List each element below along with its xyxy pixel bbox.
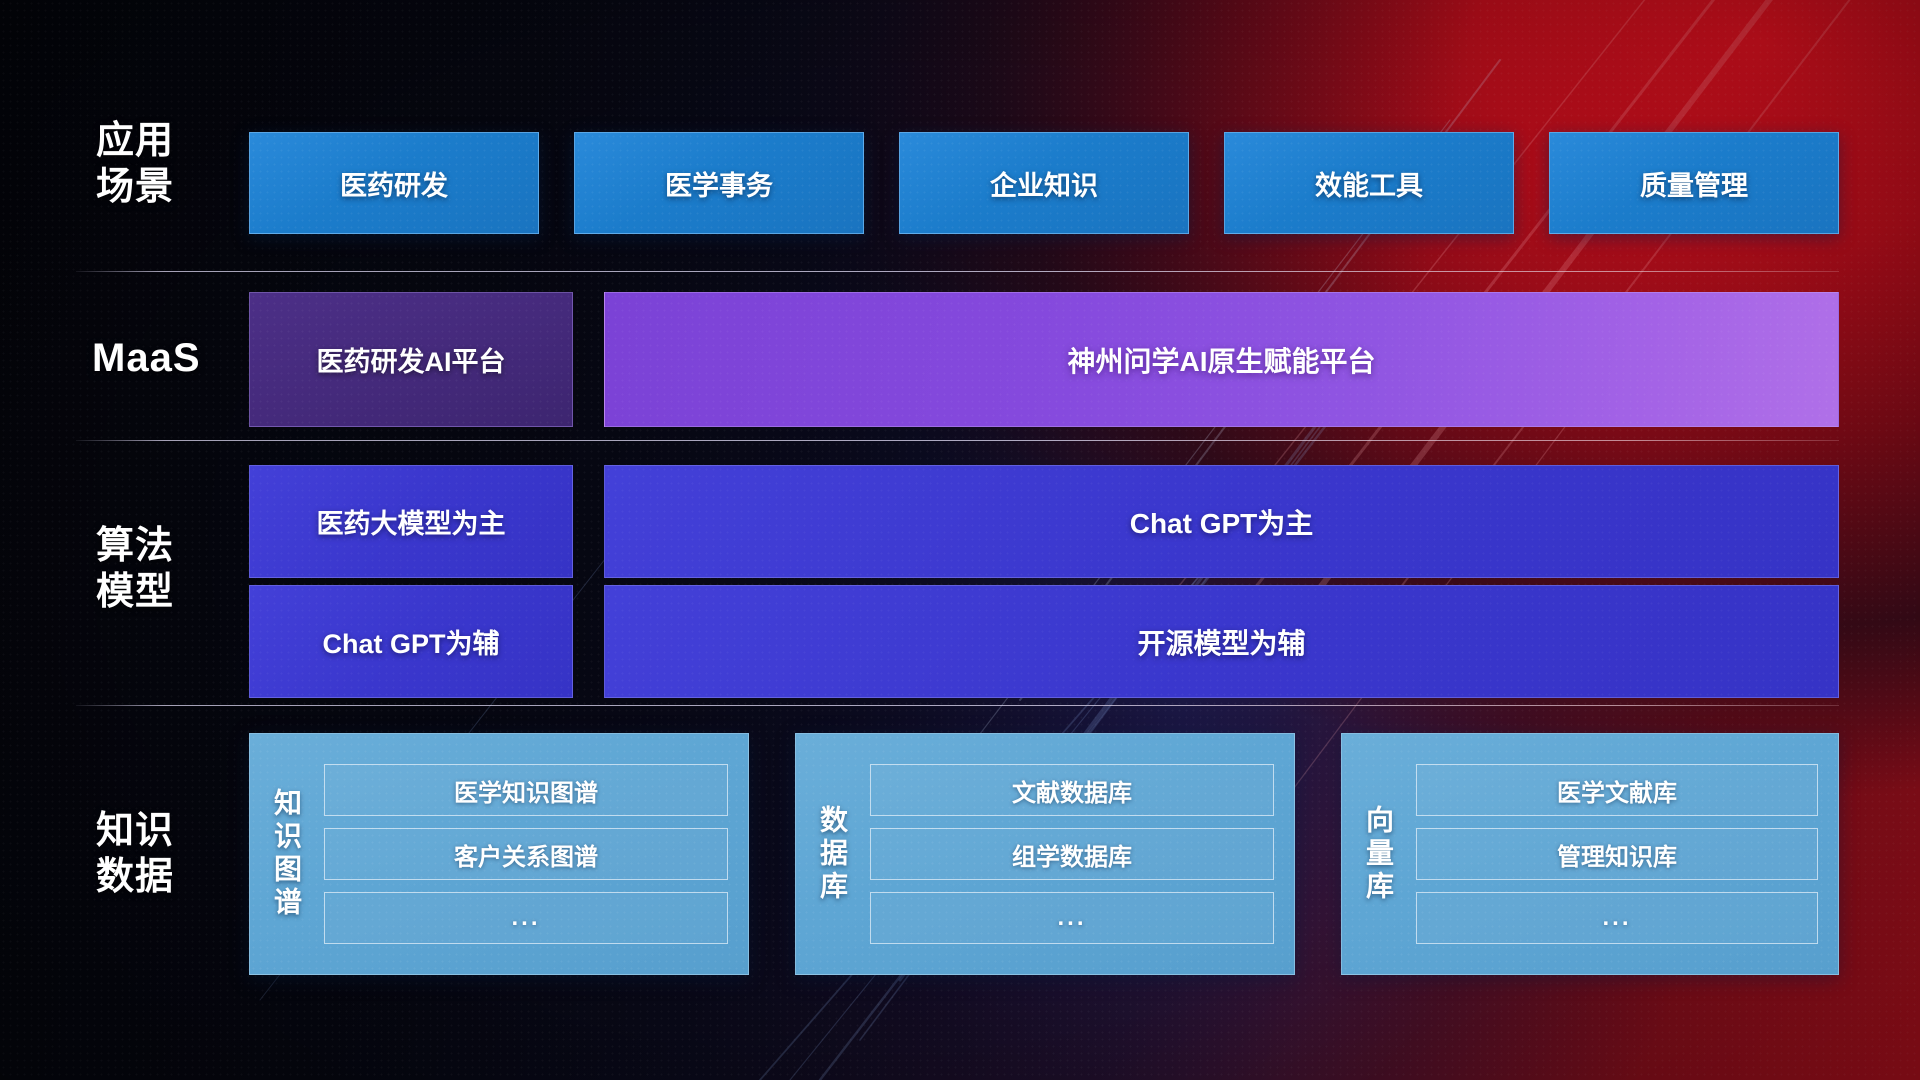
app-box-label: 企业知识	[990, 164, 1098, 203]
maas-box-drug-rnd-ai-platform[interactable]: 医药研发AI平台	[249, 292, 573, 427]
knowledge-item[interactable]: 医学知识图谱	[324, 764, 728, 816]
app-box-label: 效能工具	[1315, 164, 1423, 203]
knowledge-panel-database: 数据库 文献数据库 组学数据库 ...	[795, 733, 1295, 975]
knowledge-panel-title: 向量库	[1342, 734, 1414, 974]
architecture-diagram: 向量库 应用 场景 医药研发 医学事务 企业知识 效能工具 质量管理 MaaS …	[0, 0, 1920, 1080]
algo-box-label: Chat GPT为主	[1130, 502, 1314, 542]
algo-box-chatgpt-primary[interactable]: Chat GPT为主	[604, 465, 1839, 578]
app-box-medical-affairs[interactable]: 医学事务	[574, 132, 864, 234]
algo-box-label: Chat GPT为辅	[322, 622, 499, 661]
app-box-label: 医药研发	[340, 164, 448, 203]
row-label-application-scenarios: 应用 场景	[96, 118, 236, 211]
app-box-label: 医学事务	[665, 164, 773, 203]
algo-box-chatgpt-secondary[interactable]: Chat GPT为辅	[249, 585, 573, 698]
divider-2	[76, 440, 1839, 441]
algo-box-opensource-secondary[interactable]: 开源模型为辅	[604, 585, 1839, 698]
row-label-knowledge-data: 知识 数据	[96, 808, 256, 901]
maas-box-label: 神州问学AI原生赋能平台	[1067, 340, 1375, 380]
app-box-drug-rnd[interactable]: 医药研发	[249, 132, 539, 234]
knowledge-item-more[interactable]: ...	[324, 892, 728, 944]
knowledge-item[interactable]: 文献数据库	[870, 764, 1274, 816]
app-box-enterprise-knowledge[interactable]: 企业知识	[899, 132, 1189, 234]
knowledge-item-more[interactable]: ...	[1416, 892, 1818, 944]
knowledge-item[interactable]: 客户关系图谱	[324, 828, 728, 880]
knowledge-panel-vector-store: 向量库 医学文献库 管理知识库 ...	[1341, 733, 1839, 975]
knowledge-item[interactable]: 管理知识库	[1416, 828, 1818, 880]
maas-box-shenzhou-wenxue-platform[interactable]: 神州问学AI原生赋能平台	[604, 292, 1839, 427]
row-label-maas: MaaS	[92, 334, 272, 383]
algo-box-label: 开源模型为辅	[1137, 622, 1305, 662]
algo-box-pharma-llm-primary[interactable]: 医药大模型为主	[249, 465, 573, 578]
knowledge-panel-title: 数据库	[796, 734, 868, 974]
app-box-label: 质量管理	[1640, 164, 1748, 203]
app-box-quality-management[interactable]: 质量管理	[1549, 132, 1839, 234]
knowledge-panel-knowledge-graph: 知识图谱 医学知识图谱 客户关系图谱 ...	[249, 733, 749, 975]
knowledge-item-more[interactable]: ...	[870, 892, 1274, 944]
app-box-efficiency-tools[interactable]: 效能工具	[1224, 132, 1514, 234]
row-label-algorithm-model: 算法 模型	[96, 523, 256, 616]
algo-box-label: 医药大模型为主	[317, 502, 506, 541]
divider-1	[76, 271, 1839, 272]
maas-box-label: 医药研发AI平台	[317, 340, 506, 379]
knowledge-item[interactable]: 医学文献库	[1416, 764, 1818, 816]
knowledge-item[interactable]: 组学数据库	[870, 828, 1274, 880]
knowledge-panel-title: 知识图谱	[250, 734, 322, 974]
divider-3	[76, 705, 1839, 706]
